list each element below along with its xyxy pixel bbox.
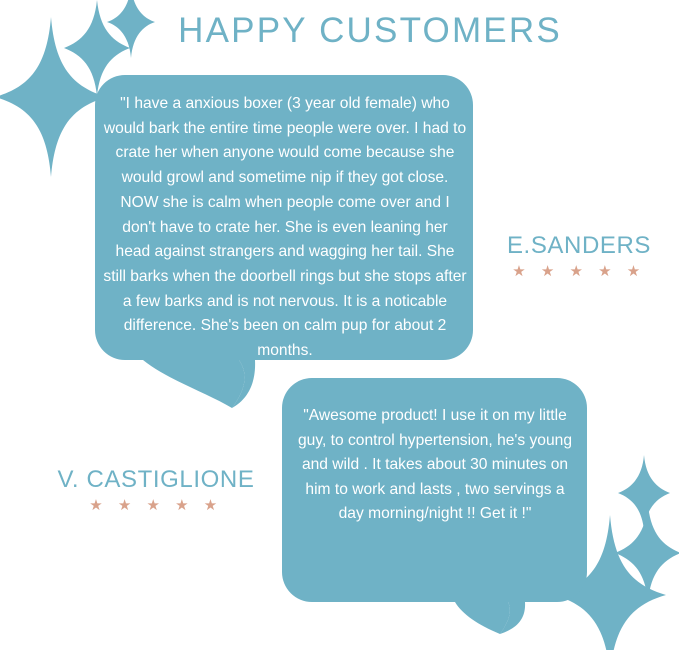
- testimonial-quote-1: "I have a anxious boxer (3 year old fema…: [103, 92, 467, 364]
- star-rating-1: ★ ★ ★ ★ ★: [489, 263, 669, 281]
- testimonial-attribution-1: E.SANDERS ★ ★ ★ ★ ★: [489, 232, 669, 281]
- testimonial-author-1: E.SANDERS: [489, 232, 669, 260]
- page-title: HAPPY CUSTOMERS: [150, 10, 590, 52]
- star-rating-2: ★ ★ ★ ★ ★: [28, 497, 284, 515]
- testimonial-quote-2: "Awesome product! I use it on my little …: [292, 404, 578, 527]
- testimonial-author-2: V. CASTIGLIONE: [28, 466, 284, 494]
- testimonial-attribution-2: V. CASTIGLIONE ★ ★ ★ ★ ★: [28, 466, 284, 515]
- sparkle-bottom-right-small: [618, 455, 670, 531]
- testimonials-page: HAPPY CUSTOMERS "I have a anxious boxer …: [0, 0, 679, 650]
